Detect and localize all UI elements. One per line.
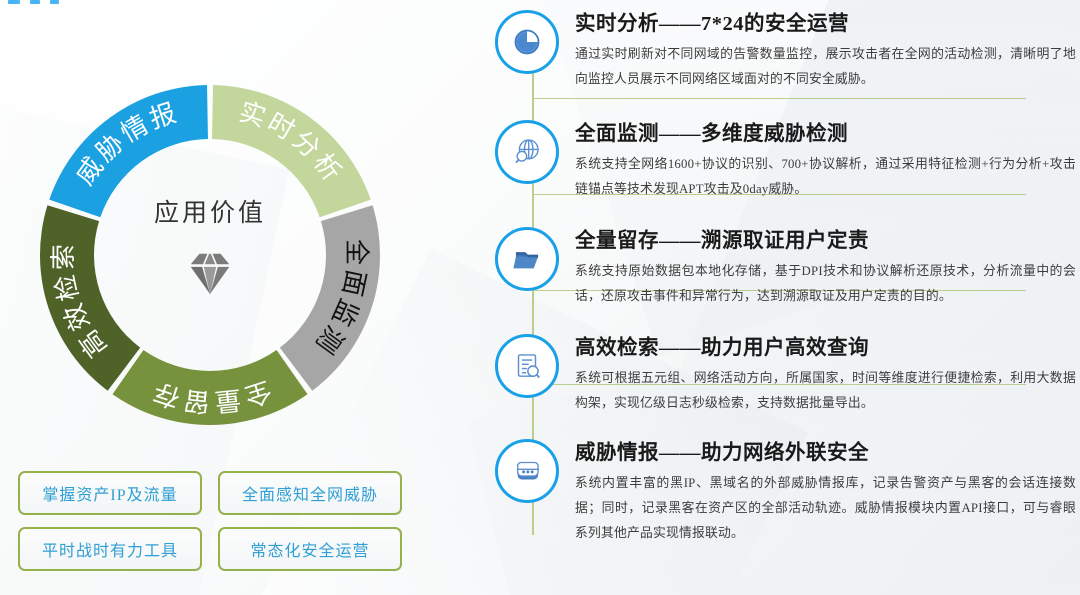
tag-network-threat-aware[interactable]: 全面感知全网威胁 — [218, 471, 402, 515]
diamond-icon — [182, 245, 238, 306]
timeline-item-full-monitoring[interactable]: 全面监测——多维度威胁检测 系统支持全网络1600+协议的识别、700+协议解析… — [495, 116, 1080, 202]
timeline-item-body: 威胁情报——助力网络外联安全 系统内置丰富的黑IP、黑域名的外部威胁情报库，记录… — [559, 435, 1080, 546]
benefit-tag-grid: 掌握资产IP及流量 全面感知全网威胁 平时战时有力工具 常态化安全运营 — [18, 471, 418, 571]
pie-chart-icon — [495, 10, 559, 74]
timeline-item-desc: 通过实时刷新对不同网域的告警数量监控，展示攻击者在全网的活动检测，清晰明了地向监… — [575, 42, 1076, 92]
tag-peace-war-tool[interactable]: 平时战时有力工具 — [18, 527, 202, 571]
slide-canvas: 实时分析全面监测全量留存高效检索威胁情报 应用价值 掌握资产IP及流量 全面感知… — [0, 0, 1080, 595]
timeline-item-body: 实时分析——7*24的安全运营 通过实时刷新对不同网域的告警数量监控，展示攻击者… — [559, 6, 1080, 92]
timeline-item-title: 威胁情报——助力网络外联安全 — [575, 435, 1076, 465]
timeline-item-efficient-search[interactable]: 高效检索——助力用户高效查询 系统可根据五元组、网络活动方向，所属国家，时间等维… — [495, 330, 1080, 416]
timeline-item-desc: 系统支持全网络1600+协议的识别、700+协议解析，通过采用特征检测+行为分析… — [575, 152, 1076, 202]
logo-bar-3 — [50, 0, 59, 4]
timeline-item-threat-intel[interactable]: 威胁情报——助力网络外联安全 系统内置丰富的黑IP、黑域名的外部威胁情报库，记录… — [495, 435, 1080, 546]
timeline-item-title: 全面监测——多维度威胁检测 — [575, 116, 1076, 146]
timeline-item-body: 全面监测——多维度威胁检测 系统支持全网络1600+协议的识别、700+协议解析… — [559, 116, 1080, 202]
chat-bubble-icon — [495, 439, 559, 503]
logo-bar-1 — [8, 0, 20, 4]
tag-normalized-security-ops[interactable]: 常态化安全运营 — [218, 527, 402, 571]
document-search-icon — [495, 334, 559, 398]
timeline-item-body: 全量留存——溯源取证用户定责 系统支持原始数据包本地化存储，基于DPI技术和协议… — [559, 223, 1080, 309]
timeline-item-body: 高效检索——助力用户高效查询 系统可根据五元组、网络活动方向，所属国家，时间等维… — [559, 330, 1080, 416]
tag-asset-ip-traffic[interactable]: 掌握资产IP及流量 — [18, 471, 202, 515]
timeline-item-desc: 系统支持原始数据包本地化存储，基于DPI技术和协议解析还原技术，分析流量中的会话… — [575, 259, 1076, 309]
logo-bar-2 — [30, 0, 40, 4]
wheel-center-title: 应用价值 — [10, 193, 410, 229]
timeline-item-desc: 系统可根据五元组、网络活动方向，所属国家，时间等维度进行便捷检索，利用大数据构架… — [575, 366, 1076, 416]
timeline-item-title: 全量留存——溯源取证用户定责 — [575, 223, 1076, 253]
timeline-separator-1 — [533, 98, 1026, 99]
feature-timeline: 实时分析——7*24的安全运营 通过实时刷新对不同网域的告警数量监控，展示攻击者… — [495, 0, 1080, 595]
timeline-item-title: 高效检索——助力用户高效查询 — [575, 330, 1076, 360]
timeline-item-realtime-analysis[interactable]: 实时分析——7*24的安全运营 通过实时刷新对不同网域的告警数量监控，展示攻击者… — [495, 6, 1080, 92]
timeline-item-desc: 系统内置丰富的黑IP、黑域名的外部威胁情报库，记录告警资产与黑客的会话连接数据；… — [575, 471, 1076, 546]
top-left-logo-mark — [8, 0, 59, 4]
application-value-wheel: 实时分析全面监测全量留存高效检索威胁情报 应用价值 — [10, 55, 410, 455]
donut-segment[interactable] — [112, 350, 307, 425]
folder-icon — [495, 227, 559, 291]
timeline-item-title: 实时分析——7*24的安全运营 — [575, 6, 1076, 36]
timeline-item-full-retention[interactable]: 全量留存——溯源取证用户定责 系统支持原始数据包本地化存储，基于DPI技术和协议… — [495, 223, 1080, 309]
globe-search-icon — [495, 120, 559, 184]
